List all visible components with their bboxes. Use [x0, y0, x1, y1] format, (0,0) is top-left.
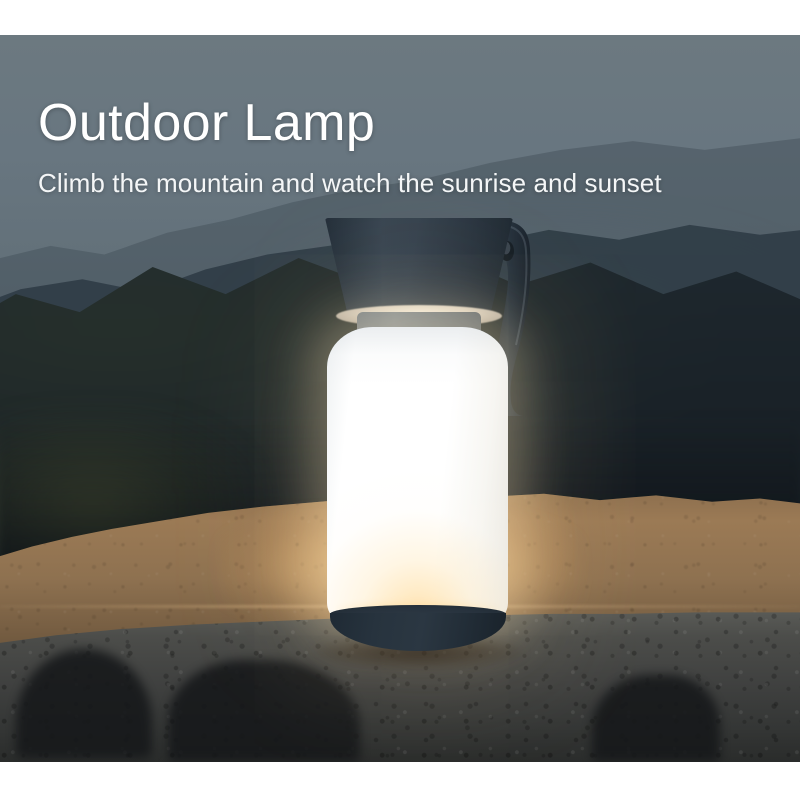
bottom-letterbox-band [0, 762, 800, 800]
product-photo: Outdoor Lamp Climb the mountain and watc… [0, 35, 800, 762]
cap-sheen [325, 218, 513, 314]
top-letterbox-band [0, 0, 800, 35]
diffuser-top-shading [327, 327, 508, 385]
page-title: Outdoor Lamp [38, 93, 375, 153]
product-banner: Outdoor Lamp Climb the mountain and watc… [0, 0, 800, 800]
page-subtitle: Climb the mountain and watch the sunrise… [38, 168, 662, 199]
